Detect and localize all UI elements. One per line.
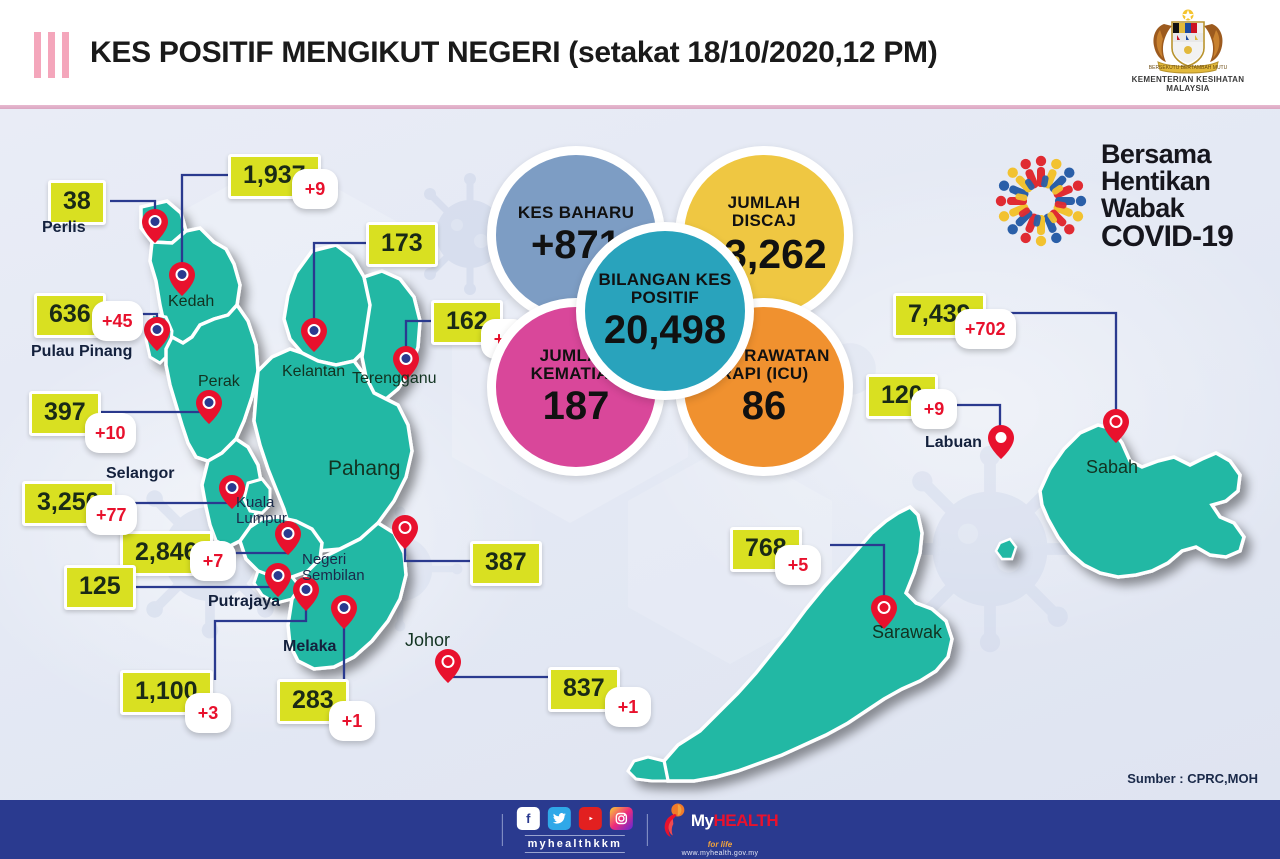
source-attribution: Sumber : CPRC,MOH — [1127, 771, 1258, 786]
state-label-sarawak: Sarawak — [872, 622, 942, 643]
stat-kes-baharu-label: KES BAHARU — [518, 204, 634, 222]
map-canvas: 38 1,937 636 173 162 397 3,250 2,846 125… — [0, 109, 1280, 800]
campaign-line2: Hentikan — [1101, 168, 1233, 195]
stat-bilangan-kes-positif: BILANGAN KES POSITIF 20,498 — [576, 222, 754, 400]
delta-badge-sarawak[interactable]: +5 — [775, 545, 821, 585]
map-pin-johor[interactable] — [435, 649, 461, 683]
campaign-text: Bersama Hentikan Wabak COVID-19 — [1101, 141, 1233, 252]
delta-badge-negeri-sembilan[interactable]: +3 — [185, 693, 231, 733]
state-label-putrajaya: Putrajaya — [208, 593, 280, 611]
kl-label-line1: Kuala — [236, 495, 287, 511]
stat-jumlah-discaj-label1: JUMLAH — [728, 194, 801, 212]
footer-bar: f myhealthkkm — [0, 800, 1280, 859]
case-chip-pahang[interactable]: 387 — [470, 541, 542, 586]
map-pin-sabah[interactable] — [1103, 409, 1129, 443]
myhealth-my: My — [691, 811, 714, 830]
case-chip-kelantan[interactable]: 173 — [366, 222, 438, 267]
line-sarawak — [830, 545, 884, 597]
people-circle-icon — [985, 145, 1097, 257]
campaign-line3: Wabak — [1101, 195, 1233, 222]
youtube-icon[interactable] — [579, 807, 602, 830]
stat-jumlah-discaj-label2: DISCAJ — [732, 212, 796, 230]
stat-bilangan-value: 20,498 — [604, 309, 726, 351]
instagram-icon[interactable] — [610, 807, 633, 830]
summary-stats-flower: KES BAHARU +871 JUMLAH DISCAJ 13,262 JUM… — [487, 146, 867, 476]
ns-label-line1: Negeri — [302, 552, 365, 568]
ministry-of-health-logo: BERSEKUTU BERTAMBAH MUTU KEMENTERIAN KES… — [1122, 8, 1254, 102]
stat-bilangan-label2: POSITIF — [631, 289, 699, 307]
campaign-line4: COVID-19 — [1101, 222, 1233, 252]
state-label-selangor: Selangor — [106, 465, 174, 483]
state-label-kuala-lumpur: Kuala Lumpur — [236, 495, 287, 527]
line-kelantan — [314, 243, 366, 325]
myhealth-wordmark: MyHEALTH — [691, 811, 778, 831]
myhealth-url: www.myhealth.gov.my — [682, 850, 759, 857]
line-perak — [86, 392, 209, 412]
footer-divider-left — [502, 814, 503, 846]
state-label-pahang: Pahang — [328, 457, 400, 481]
case-chip-putrajaya[interactable]: 125 — [64, 565, 136, 610]
ministry-name-line1: KEMENTERIAN KESIHATAN — [1122, 75, 1254, 84]
social-media-block: f myhealthkkm — [517, 807, 633, 853]
myhealth-tagline: for life — [708, 840, 732, 849]
state-label-labuan: Labuan — [925, 434, 982, 452]
header-bar: KES POSITIF MENGIKUT NEGERI (setakat 18/… — [0, 0, 1280, 108]
map-pin-labuan[interactable] — [988, 425, 1014, 459]
state-label-kelantan: Kelantan — [282, 363, 345, 381]
state-label-sabah: Sabah — [1086, 457, 1138, 478]
state-label-melaka: Melaka — [283, 638, 336, 656]
malaysia-coat-of-arms-icon: BERSEKUTU BERTAMBAH MUTU — [1122, 8, 1254, 74]
myhealth-logo[interactable]: MyHEALTH for life www.myhealth.gov.my — [662, 803, 778, 857]
facebook-icon[interactable]: f — [517, 807, 540, 830]
map-pin-pahang[interactable] — [392, 515, 418, 549]
delta-badge-selangor[interactable]: +77 — [86, 495, 137, 535]
campaign-line1: Bersama — [1101, 141, 1233, 168]
ministry-name-line2: MALAYSIA — [1122, 84, 1254, 93]
footer-divider-right — [647, 814, 648, 846]
title-accent-bars — [34, 32, 78, 78]
line-johor — [448, 661, 548, 677]
bersama-hentikan-wabak-logo: Bersama Hentikan Wabak COVID-19 — [985, 137, 1275, 267]
map-pin-putrajaya[interactable] — [265, 563, 291, 597]
social-handle[interactable]: myhealthkkm — [525, 835, 626, 853]
delta-badge-kedah[interactable]: +9 — [292, 169, 338, 209]
delta-badge-melaka[interactable]: +1 — [329, 701, 375, 741]
state-label-negeri-sembilan: Negeri Sembilan — [302, 552, 365, 584]
map-pin-melaka[interactable] — [331, 595, 357, 629]
delta-badge-labuan[interactable]: +9 — [911, 389, 957, 429]
stat-jumlah-kematian-value: 187 — [543, 385, 610, 427]
map-pin-pulau-pinang[interactable] — [144, 317, 170, 351]
stat-icu-value: 86 — [742, 385, 787, 427]
delta-badge-pulau-pinang[interactable]: +45 — [92, 301, 143, 341]
delta-badge-perak[interactable]: +10 — [85, 413, 136, 453]
map-pin-kedah[interactable] — [169, 262, 195, 296]
line-kedah — [182, 175, 228, 269]
twitter-icon[interactable] — [548, 807, 571, 830]
line-labuan — [952, 405, 1000, 427]
kl-label-line2: Lumpur — [236, 511, 287, 527]
stat-bilangan-label1: BILANGAN KES — [599, 271, 732, 289]
state-label-perlis: Perlis — [42, 219, 86, 237]
page-title: KES POSITIF MENGIKUT NEGERI (setakat 18/… — [90, 36, 937, 70]
state-label-johor: Johor — [405, 630, 450, 651]
line-sabah — [1000, 313, 1116, 411]
map-pin-perlis[interactable] — [142, 209, 168, 243]
state-label-perak: Perak — [198, 373, 240, 391]
myhealth-health: HEALTH — [713, 811, 778, 830]
state-label-pulau-pinang: Pulau Pinang — [31, 343, 132, 361]
myhealth-mascot-icon — [662, 803, 688, 839]
state-label-kedah: Kedah — [168, 293, 214, 311]
map-pin-kelantan[interactable] — [301, 318, 327, 352]
delta-badge-johor[interactable]: +1 — [605, 687, 651, 727]
infographic-page: KES POSITIF MENGIKUT NEGERI (setakat 18/… — [0, 0, 1280, 859]
delta-badge-sabah[interactable]: +702 — [955, 309, 1016, 349]
ns-label-line2: Sembilan — [302, 568, 365, 584]
delta-badge-kuala-lumpur[interactable]: +7 — [190, 541, 236, 581]
state-label-terengganu: Terengganu — [352, 370, 437, 388]
map-pin-perak[interactable] — [196, 390, 222, 424]
svg-text:BERSEKUTU BERTAMBAH MUTU: BERSEKUTU BERTAMBAH MUTU — [1149, 65, 1228, 71]
